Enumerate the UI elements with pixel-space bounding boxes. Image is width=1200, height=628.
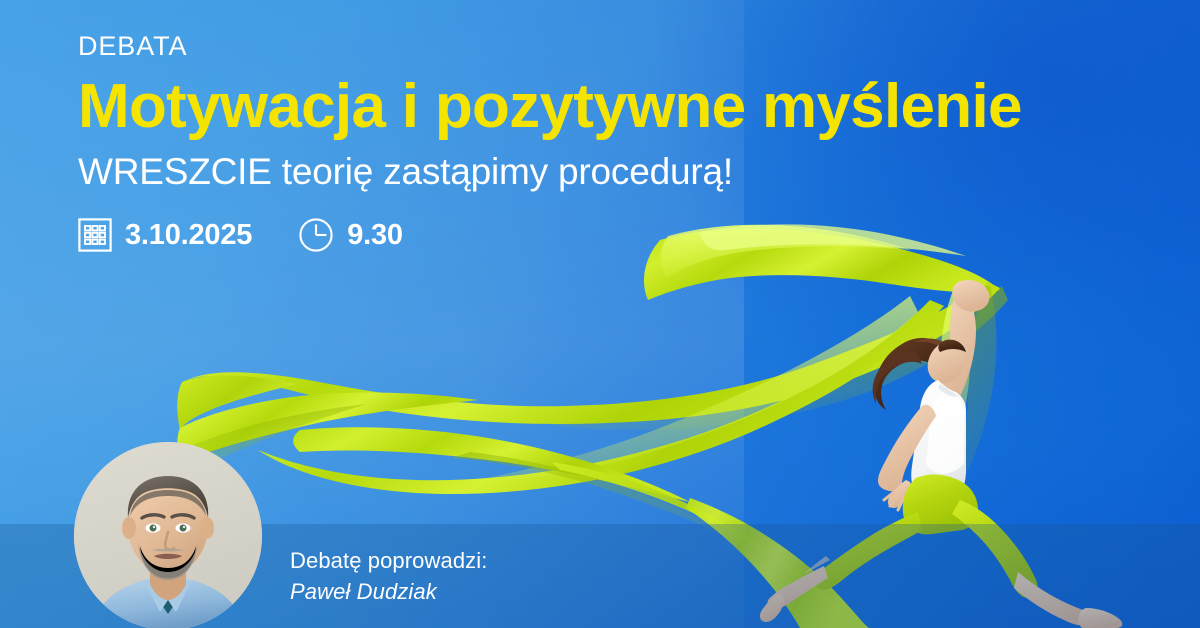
calendar-icon [78,218,112,252]
event-date: 3.10.2025 [125,221,252,250]
banner-content: DEBATA Motywacja i pozytywne myślenie WR… [78,0,1138,253]
event-meta: 3.10.2025 9.30 [78,217,1138,253]
subtitle: WRESZCIE teorię zastąpimy procedurą! [78,152,1138,193]
kicker-label: DEBATA [78,33,1138,60]
time-group: 9.30 [298,217,403,253]
promo-banner: DEBATA Motywacja i pozytywne myślenie WR… [0,0,1200,628]
avatar [74,442,262,628]
page-title: Motywacja i pozytywne myślenie [78,74,1138,140]
host-label: Debatę poprowadzi: [290,545,487,576]
host-info: Debatę poprowadzi: Paweł Dudziak [290,524,487,628]
event-time: 9.30 [347,221,403,250]
clock-icon [298,217,334,253]
date-group: 3.10.2025 [78,218,252,252]
host-name: Paweł Dudziak [290,576,487,607]
